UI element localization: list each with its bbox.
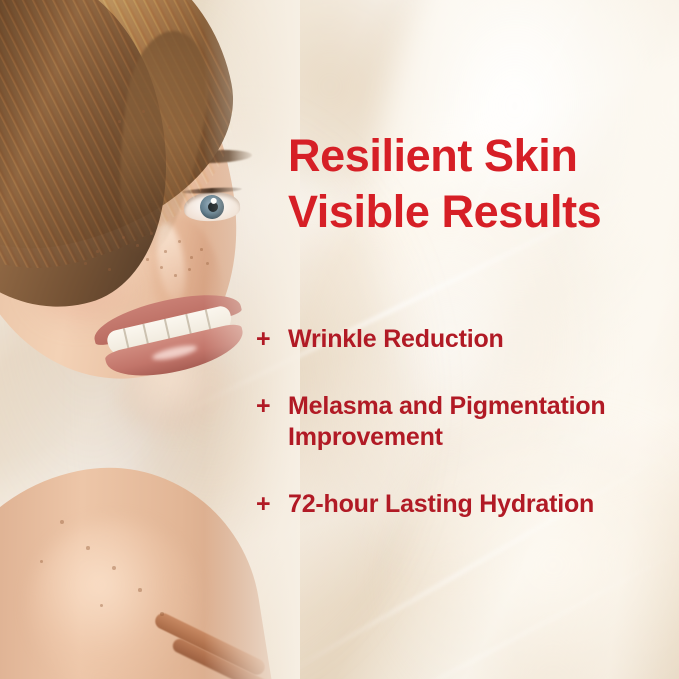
plus-icon: + <box>256 391 288 422</box>
ad-copy: Resilient Skin Visible Results + Wrinkle… <box>256 128 664 240</box>
benefit-list: + Wrinkle Reduction + Melasma and Pigmen… <box>256 324 664 520</box>
benefit-label: Melasma and Pigmentation Improvement <box>288 391 664 453</box>
benefit-label: Wrinkle Reduction <box>288 324 504 355</box>
plus-icon: + <box>256 324 288 355</box>
model-photo <box>0 0 300 679</box>
list-item: + 72-hour Lasting Hydration <box>256 489 664 520</box>
page-title: Resilient Skin Visible Results <box>256 128 664 240</box>
headline-line-1: Resilient Skin <box>288 128 664 184</box>
benefit-label: 72-hour Lasting Hydration <box>288 489 594 520</box>
skincare-ad-banner: Resilient Skin Visible Results + Wrinkle… <box>0 0 679 679</box>
headline-line-2: Visible Results <box>288 184 664 240</box>
list-item: + Melasma and Pigmentation Improvement <box>256 391 664 453</box>
list-item: + Wrinkle Reduction <box>256 324 664 355</box>
plus-icon: + <box>256 489 288 520</box>
